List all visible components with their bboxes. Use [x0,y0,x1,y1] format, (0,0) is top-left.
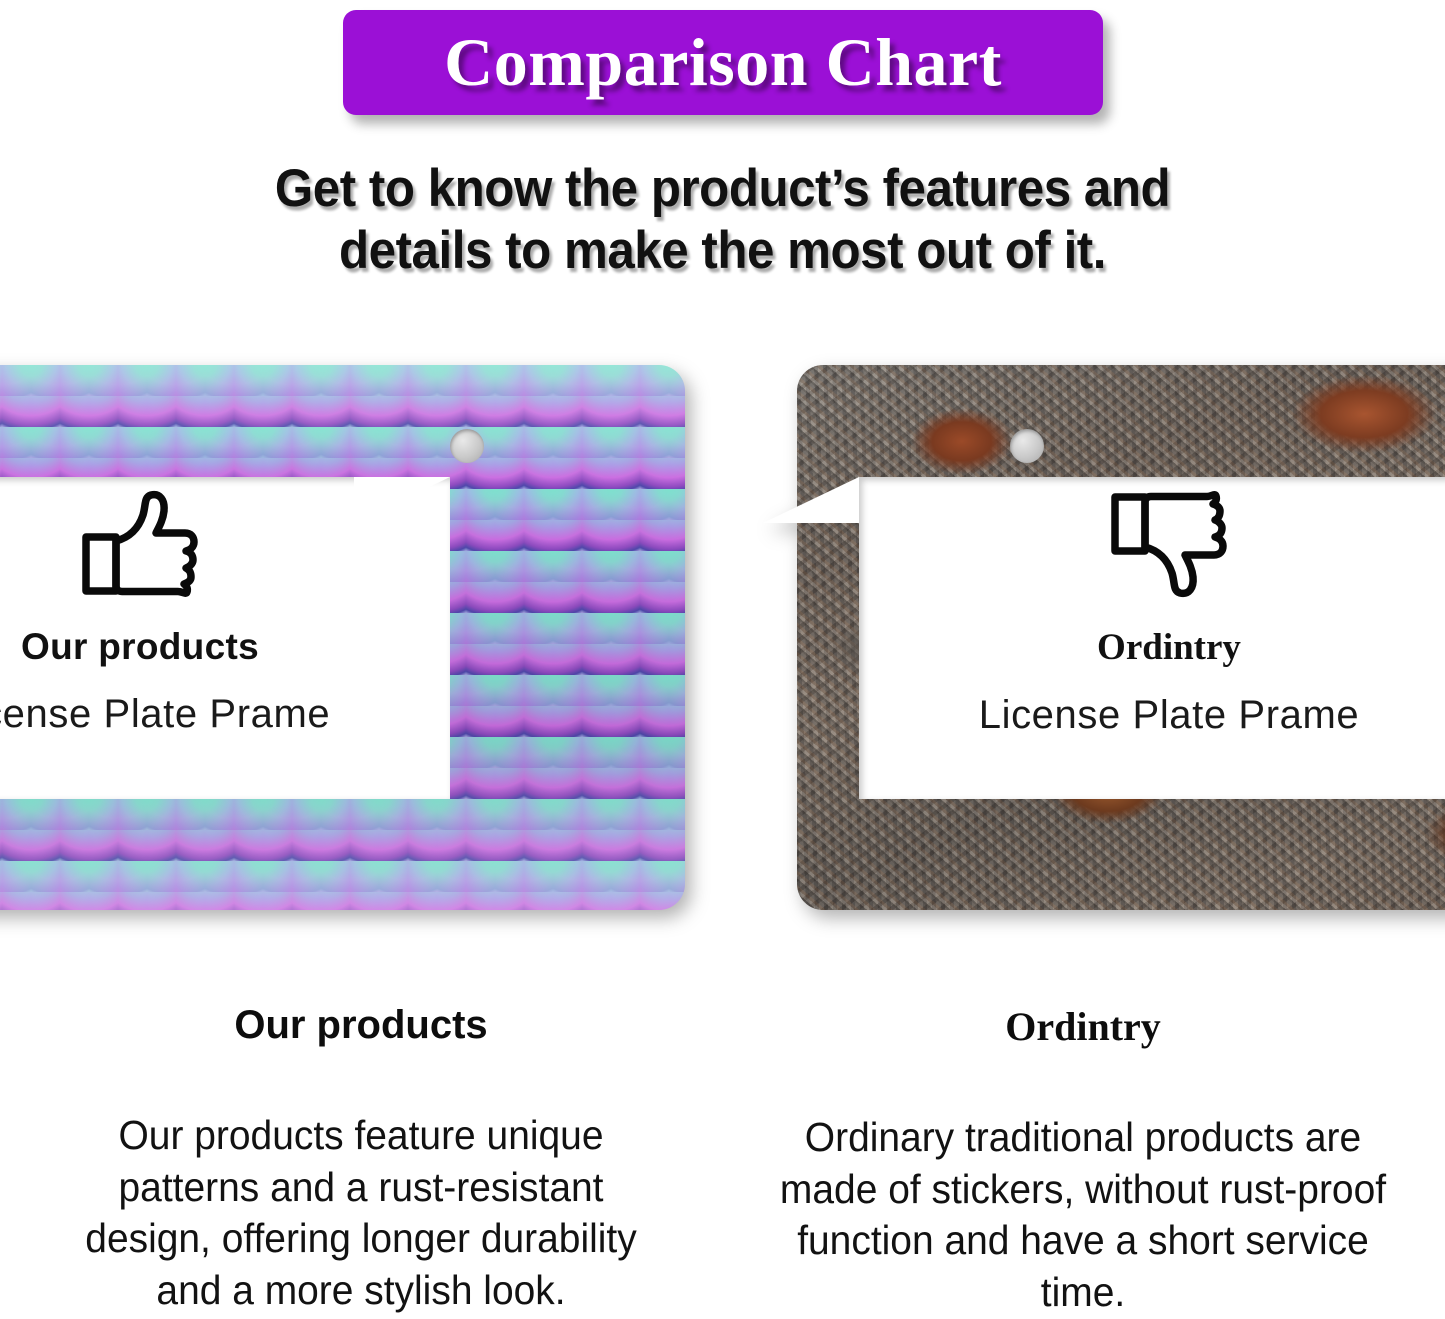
thumbs-up-icon [81,489,199,604]
our-products-description: Our products feature unique patterns and… [57,1110,665,1317]
mounting-hole-right-frame [1010,429,1044,463]
left-frame-content: Our products License Plate Prame [0,477,450,799]
product-frames-region: Our products License Plate Prame Ordintr… [0,355,1445,930]
subtitle: Get to know the product’s features and d… [51,158,1395,282]
mounting-hole-left-frame [450,429,484,463]
our-products-heading: Our products [234,1003,487,1048]
comparison-chart-banner: Comparison Chart [343,10,1103,115]
our-products-column: Our products Our products feature unique… [0,985,722,1314]
window-corner-chamfer-right-frame [763,477,859,523]
right-frame-content: Ordintry License Plate Prame [859,477,1445,799]
ordinary-product-frame-image: Ordintry License Plate Prame [797,365,1445,910]
left-frame-label-sub: License Plate Prame [0,692,330,737]
page-title: Comparison Chart [444,23,1002,102]
ordintry-description: Ordinary traditional products are made o… [779,1112,1387,1319]
ordintry-heading: Ordintry [1005,1003,1161,1050]
our-product-frame-image: Our products License Plate Prame [0,365,685,910]
left-frame-label-main: Our products [21,626,259,668]
subtitle-line-2: details to make the most out of it. [51,220,1395,282]
right-frame-label-sub: License Plate Prame [979,693,1359,738]
ordintry-column: Ordintry Ordinary traditional products a… [722,985,1444,1314]
comparison-text-columns: Our products Our products feature unique… [0,985,1445,1314]
subtitle-line-1: Get to know the product’s features and [51,158,1395,220]
right-frame-label-main: Ordintry [1097,626,1241,669]
thumbs-down-icon [1110,489,1228,604]
